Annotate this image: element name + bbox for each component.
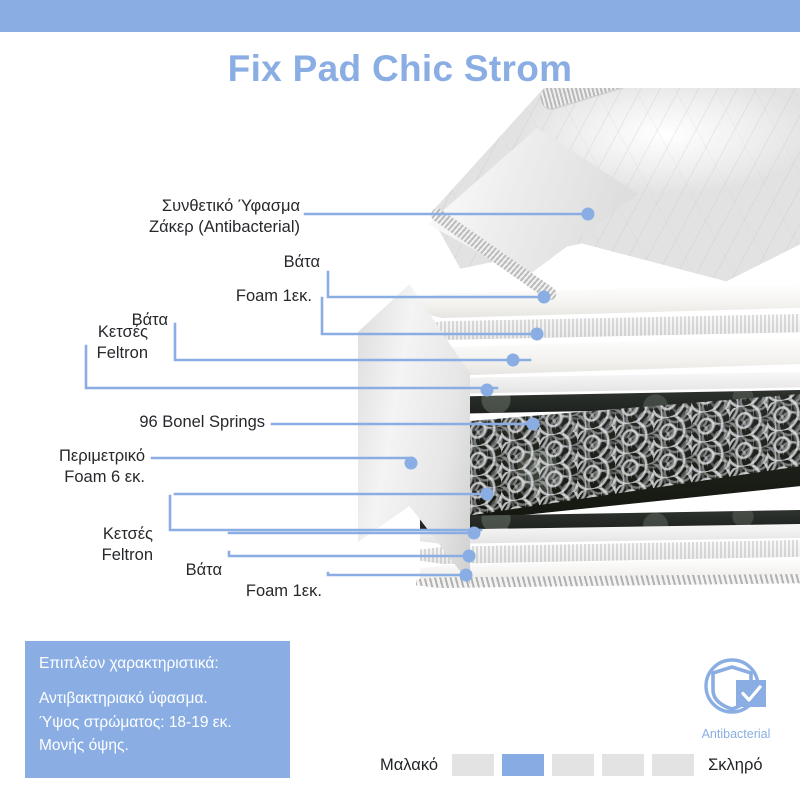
shield-check-icon <box>699 658 773 720</box>
layer-foam-upper <box>420 336 800 376</box>
callout-label-foam-1-bottom: Foam 1εκ. <box>170 581 322 602</box>
mattress-cutaway-illustration <box>330 88 800 628</box>
firmness-level-boxes <box>452 754 694 776</box>
callout-label-vata-bottom: Βάτα <box>140 560 222 581</box>
product-infographic: Fix Pad Chic Strom <box>0 0 800 800</box>
firmness-level-5[interactable] <box>652 754 694 776</box>
layer-feltron-top <box>420 372 800 394</box>
antibacterial-badge: Antibacterial <box>676 658 796 741</box>
firmness-level-3[interactable] <box>552 754 594 776</box>
extra-feature-height: Ύψος στρώματος: 18-19 εκ. <box>39 711 290 735</box>
top-accent-band <box>0 0 800 32</box>
firmness-hard-label: Σκληρό <box>708 756 762 775</box>
firmness-scale: Μαλακό Σκληρό <box>380 752 790 778</box>
callout-label-perimeter-foam: Περιμετρικό Foam 6 εκ. <box>0 446 145 487</box>
quilted-cover <box>430 88 800 298</box>
firmness-level-4[interactable] <box>602 754 644 776</box>
extra-features-box: Επιπλέον χαρακτηριστικά: Αντιβακτηριακό … <box>25 641 290 778</box>
extra-features-heading: Επιπλέον χαρακτηριστικά: <box>39 655 290 673</box>
extra-feature-antibacterial: Αντιβακτηριακό ύφασμα. <box>39 687 290 711</box>
firmness-soft-label: Μαλακό <box>380 756 438 775</box>
extra-feature-single-side: Μονής όψης. <box>39 734 290 758</box>
layer-vata-top <box>420 314 800 340</box>
callout-label-ketses-feltron-top: Κετσές Feltron <box>0 322 148 363</box>
callout-label-foam-1-top: Foam 1εκ. <box>160 286 312 307</box>
mattress-layer-stack <box>330 274 800 614</box>
page-title: Fix Pad Chic Strom <box>0 48 800 90</box>
firmness-level-1[interactable] <box>452 754 494 776</box>
callout-label-synthetic-fabric: Συνθετικό Ύφασμα Ζάκερ (Antibacterial) <box>60 196 300 237</box>
antibacterial-caption: Antibacterial <box>676 727 796 741</box>
callout-label-bonel-springs: 96 Bonel Springs <box>60 412 265 433</box>
firmness-level-2[interactable] <box>502 754 544 776</box>
callout-label-vata-top: Βάτα <box>220 252 320 273</box>
callout-label-ketses-feltron-bottom: Κετσές Feltron <box>10 524 153 565</box>
